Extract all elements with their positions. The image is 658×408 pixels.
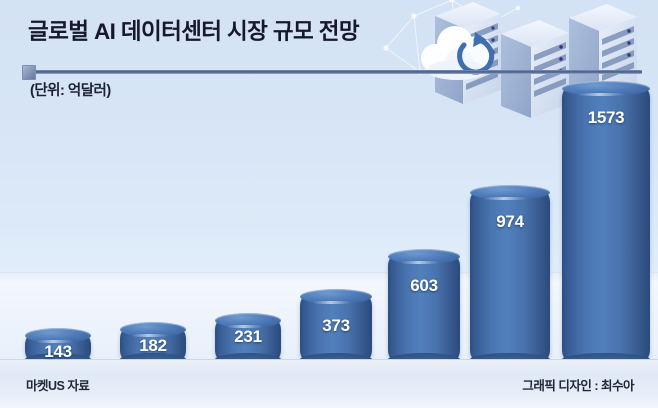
bar-highlight xyxy=(400,261,442,264)
infographic-root: 글로벌 AI 데이터센터 시장 규모 전망 (단위: 억달러) 1432024년… xyxy=(0,0,658,408)
designer-credit: 그래픽 디자인 : 최수아 xyxy=(522,375,634,394)
bar-2030년[interactable]: 603 xyxy=(388,256,460,360)
bar-2026년[interactable]: 231 xyxy=(215,320,281,360)
bar-2034년[interactable]: 1573 xyxy=(562,88,650,360)
bar-value-label: 143 xyxy=(25,342,91,362)
bar-highlight xyxy=(312,301,354,304)
bar-highlight xyxy=(483,197,529,200)
bar-value-label: 231 xyxy=(215,327,281,347)
bar-chart: 1432024년1822025년2312026년3732028년6032030년… xyxy=(0,0,658,408)
bar-cylinder xyxy=(562,88,650,360)
source-label: 마켓US 자료 xyxy=(26,375,89,394)
bar-2032년[interactable]: 974 xyxy=(470,192,550,360)
bar-2025년[interactable]: 182 xyxy=(120,329,186,360)
bar-cylinder xyxy=(388,256,460,360)
bar-value-label: 1573 xyxy=(562,108,650,128)
bar-value-label: 603 xyxy=(388,276,460,296)
bar-value-label: 182 xyxy=(120,336,186,356)
bar-highlight xyxy=(576,93,627,96)
bar-value-label: 974 xyxy=(470,212,550,232)
bar-2028년[interactable]: 373 xyxy=(300,296,372,360)
bar-value-label: 373 xyxy=(300,316,372,336)
bar-2024년[interactable]: 143 xyxy=(25,335,91,360)
footer: 마켓US 자료 그래픽 디자인 : 최수아 xyxy=(0,359,658,408)
